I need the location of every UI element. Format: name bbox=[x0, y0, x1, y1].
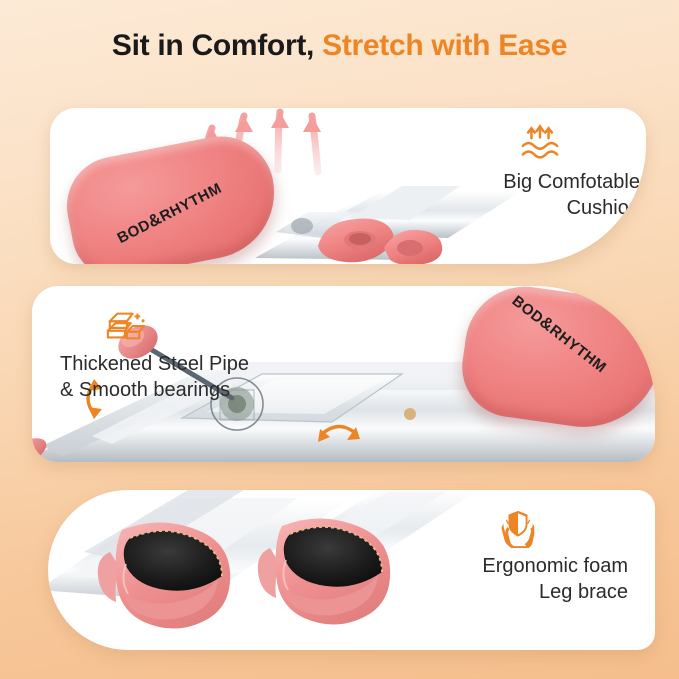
steel-ingots-icon bbox=[102, 306, 148, 346]
feature-line-1: Big Comfotable bbox=[440, 170, 640, 196]
page-title: Sit in Comfort, Stretch with Ease bbox=[112, 29, 567, 63]
feature-line-2: Leg brace bbox=[408, 580, 628, 606]
feature-line-2: & Smooth bearings bbox=[60, 378, 249, 404]
page-title-dark: Sit in Comfort, bbox=[112, 29, 314, 62]
header-bar: Sit in Comfort, Stretch with Ease bbox=[0, 0, 679, 92]
feature-info-cushion: Big Comfotable Cushion bbox=[440, 124, 640, 221]
feature-info-legbrace: Ergonomic foam Leg brace bbox=[408, 508, 628, 605]
screw-knob bbox=[404, 408, 416, 420]
feature-info-steel: Thickened Steel Pipe & Smooth bearings bbox=[58, 306, 358, 403]
feature-line-2: Cushion bbox=[440, 196, 640, 222]
feature-text-steel: Thickened Steel Pipe & Smooth bearings bbox=[58, 352, 249, 403]
feature-line-1: Ergonomic foam bbox=[408, 554, 628, 580]
feature-panel-cushion: BOD&RHYTHM Big Comfotable Cushion bbox=[50, 108, 646, 264]
feature-panel-steel: BOD&RHYTHM Thickened Steel Pipe & Smooth… bbox=[32, 286, 655, 462]
feature-text-legbrace: Ergonomic foam Leg brace bbox=[408, 554, 628, 605]
shield-in-hands-icon bbox=[495, 508, 541, 548]
feature-text-cushion: Big Comfotable Cushion bbox=[440, 170, 640, 221]
feature-panel-legbrace: Ergonomic foam Leg brace bbox=[48, 490, 655, 650]
feature-line-1: Thickened Steel Pipe bbox=[60, 352, 249, 378]
page-title-accent: Stretch with Ease bbox=[322, 29, 567, 62]
cushion-waves-icon bbox=[517, 124, 563, 164]
